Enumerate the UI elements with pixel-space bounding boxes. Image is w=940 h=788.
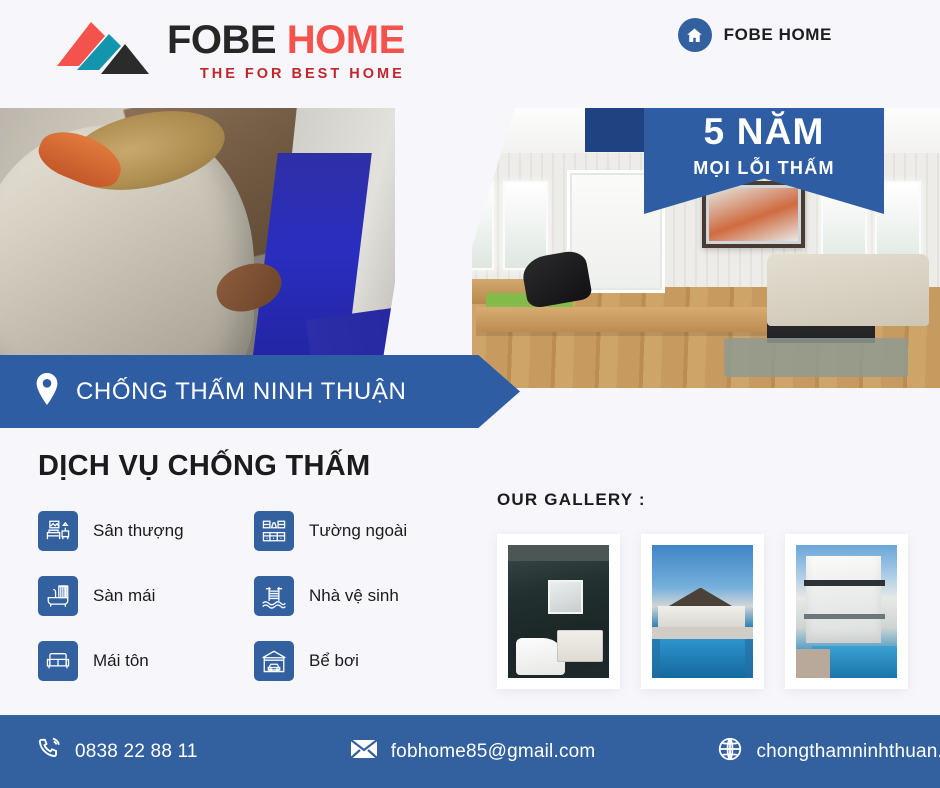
logo-word-1: FOBE <box>167 18 276 62</box>
header: FOBE HOME THE FOR BEST HOME FOBE HOME <box>0 0 940 108</box>
service-label: Sân thượng <box>93 521 184 541</box>
home-circle-icon <box>678 18 712 52</box>
logo-word-2: HOME <box>287 18 405 62</box>
contact-email[interactable]: fobhome85@gmail.com <box>350 738 596 765</box>
service-item-tuong-ngoai[interactable]: Tường ngoài <box>254 511 470 551</box>
gallery-image-modern-house-pool <box>796 545 897 678</box>
service-item-san-mai[interactable]: Sàn mái <box>38 576 254 616</box>
logo-tagline: THE FOR BEST HOME <box>167 66 405 82</box>
gallery-section: OUR GALLERY : <box>497 490 907 689</box>
service-label: Sàn mái <box>93 586 155 606</box>
contact-phone-text: 0838 22 88 11 <box>75 741 198 763</box>
envelope-icon <box>350 738 378 765</box>
phone-ring-icon <box>36 736 62 767</box>
warranty-line-3: MỌI LỖI THẤM <box>644 158 884 180</box>
garage-car-icon <box>254 641 294 681</box>
brand-logo[interactable]: FOBE HOME THE FOR BEST HOME <box>57 18 405 84</box>
globe-icon <box>717 736 743 767</box>
logo-title: FOBE HOME <box>167 20 405 61</box>
service-item-mai-ton[interactable]: Mái tôn <box>38 641 254 681</box>
service-label: Bể bơi <box>309 651 359 671</box>
service-label: Mái tôn <box>93 651 149 671</box>
gallery-card[interactable] <box>785 534 908 689</box>
services-title: DỊCH VỤ CHỐNG THẤM <box>38 450 468 483</box>
footer-contact-bar: 0838 22 88 11 fobhome85@gmail.com <box>0 715 940 788</box>
brand-right-label: FOBE HOME <box>724 25 832 45</box>
gallery-image-bathroom <box>508 545 609 678</box>
service-label: Nhà vệ sinh <box>309 586 399 606</box>
services-section: DỊCH VỤ CHỐNG THẤM Sân thượng <box>38 450 468 681</box>
location-label: CHỐNG THẤM NINH THUẬN <box>76 378 406 406</box>
logo-text-block: FOBE HOME THE FOR BEST HOME <box>167 20 405 82</box>
sofa-icon <box>38 641 78 681</box>
contact-email-text: fobhome85@gmail.com <box>391 741 596 763</box>
gallery-card[interactable] <box>641 534 764 689</box>
bedroom-interior-icon <box>38 511 78 551</box>
service-item-nha-ve-sinh[interactable]: Nhà vệ sinh <box>254 576 470 616</box>
contact-website[interactable]: chongthamninhthuan.com <box>717 736 940 767</box>
pool-ladder-water-icon <box>254 576 294 616</box>
kitchen-cabinets-icon <box>254 511 294 551</box>
brand-right[interactable]: FOBE HOME <box>678 18 832 52</box>
gallery-row <box>497 534 907 689</box>
service-item-san-thuong[interactable]: Sân thượng <box>38 511 254 551</box>
roof-chevrons-logo-icon <box>57 18 153 84</box>
poster-root: FOBE HOME THE FOR BEST HOME FOBE HOME <box>0 0 940 788</box>
service-label: Tường ngoài <box>309 521 407 541</box>
gallery-title: OUR GALLERY : <box>497 490 907 510</box>
contact-website-text: chongthamninhthuan.com <box>756 741 940 763</box>
warranty-line-2: 5 NĂM <box>644 110 884 154</box>
services-grid: Sân thượng Tường ngoài <box>38 511 468 681</box>
bathroom-tub-icon <box>38 576 78 616</box>
service-item-be-boi[interactable]: Bể bơi <box>254 641 470 681</box>
gallery-image-villa-pool <box>652 545 753 678</box>
location-banner: CHỐNG THẤM NINH THUẬN <box>0 355 520 428</box>
contact-phone[interactable]: 0838 22 88 11 <box>36 736 198 767</box>
gallery-card[interactable] <box>497 534 620 689</box>
map-pin-icon <box>34 373 60 410</box>
